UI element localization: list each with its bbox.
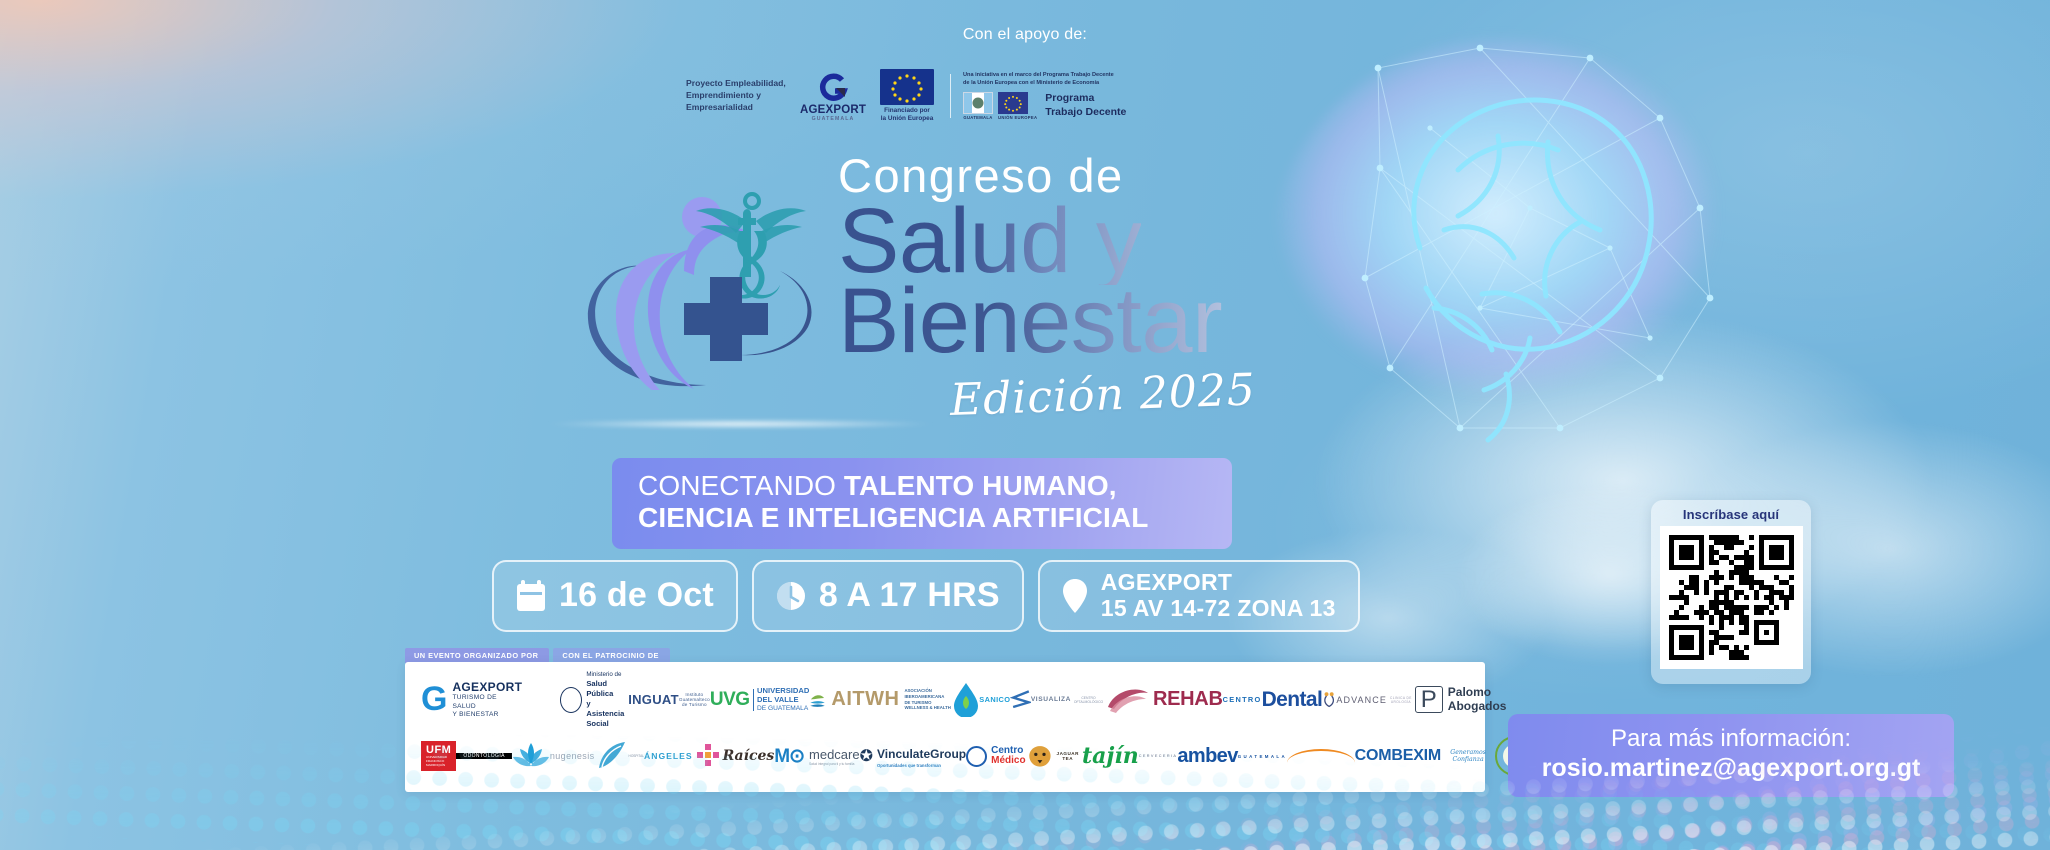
programa-heading-line2: de la Unión Europea con el Ministerio de…: [963, 80, 1099, 86]
agexport-g-icon: [816, 70, 850, 104]
sponsor-tabs: UN EVENTO ORGANIZADO POR CON EL PATROCIN…: [405, 648, 670, 663]
programa-name-line2: Trabajo Decente: [1045, 106, 1126, 118]
hero-underline-glow: [470, 418, 1010, 430]
pill-location-line1: AGEXPORT: [1101, 569, 1232, 595]
eu-funding-logo: Financiado por la Unión Europea: [876, 69, 938, 123]
eu-caption-line2: la Unión Europea: [881, 115, 934, 122]
pill-date[interactable]: 16 de Oct: [492, 560, 738, 632]
calendar-icon: [516, 580, 546, 612]
location-pin-glyph: [1062, 579, 1088, 613]
sponsor-tab-organizer: UN EVENTO ORGANIZADO POR: [405, 648, 549, 663]
qr-title: Inscríbase aquí: [1683, 507, 1779, 522]
support-logos-row: Proyecto Empleabilidad, Emprendimiento y…: [686, 66, 1166, 126]
bottom-dot-wave: [0, 670, 2050, 850]
eu-stars-small-icon: [998, 92, 1028, 114]
programa-heading-line1: Una iniciativa en el marco del Programa …: [963, 72, 1114, 78]
guatemala-flag-block: GUATEMALA: [963, 92, 993, 120]
clock-icon: [776, 581, 806, 611]
pill-date-text: 16 de Oct: [559, 576, 714, 615]
clock-glyph: [776, 581, 806, 611]
agexport-name: AGEXPORT: [800, 104, 866, 116]
programa-flags-row: GUATEMALA UNIÓN EUROPEA: [963, 92, 1131, 120]
pill-time-text: 8 A 17 HRS: [819, 576, 1000, 615]
eu-caption-line1: Financiado por: [884, 107, 930, 114]
eu-flag-small-icon: [998, 92, 1028, 114]
programa-trabajo-decente-logo: Una iniciativa en el marco del Programa …: [963, 72, 1131, 119]
pill-location-line2: 15 AV 14-72 ZONA 13: [1101, 595, 1336, 621]
support-divider: [950, 74, 951, 118]
agexport-country: GUATEMALA: [812, 116, 855, 122]
tagline-banner: CONECTANDO TALENTO HUMANO, CIENCIA E INT…: [612, 458, 1232, 549]
pill-time[interactable]: 8 A 17 HRS: [752, 560, 1024, 632]
eu-caption: Financiado por la Unión Europea: [881, 107, 934, 123]
guatemala-seal-icon: [973, 97, 984, 108]
eu-stars-icon: [880, 69, 934, 105]
hero-line3: Bienestar: [838, 278, 1222, 365]
sponsor-tab-patrons: CON EL PATROCINIO DE: [553, 648, 669, 663]
qr-code[interactable]: [1660, 526, 1803, 669]
eu-flag-icon: [880, 69, 934, 105]
tagline-lead: CONECTANDO: [638, 470, 844, 501]
brain-network-svg: [1230, 8, 1790, 468]
qr-registration-card[interactable]: Inscríbase aquí: [1651, 500, 1811, 684]
eu-flag-caption: UNIÓN EUROPEA: [998, 115, 1037, 120]
guatemala-flag-icon: [963, 92, 993, 114]
banner-canvas: Con el apoyo de: Proyecto Empleabilidad,…: [0, 0, 2050, 850]
calendar-glyph: [516, 580, 546, 612]
hero-edition: Edición 2025: [949, 364, 1256, 426]
project-text: Proyecto Empleabilidad, Emprendimiento y…: [686, 78, 790, 114]
tagline-bold2: CIENCIA E INTELIGENCIA ARTIFICIAL: [638, 502, 1148, 533]
tagline-bold1: TALENTO HUMANO,: [844, 470, 1117, 501]
event-info-pills: 16 de Oct 8 A 17 HRS AGEXPORT 15 AV 14-7…: [492, 560, 1360, 632]
location-pin-icon: [1062, 579, 1088, 613]
pill-location-text: AGEXPORT 15 AV 14-72 ZONA 13: [1101, 570, 1336, 622]
ai-brain-illustration: [1230, 8, 1790, 468]
guatemala-flag-caption: GUATEMALA: [963, 115, 993, 120]
eu-flag-block: UNIÓN EUROPEA: [998, 92, 1037, 120]
programa-heading: Una iniciativa en el marco del Programa …: [963, 72, 1131, 87]
pill-location[interactable]: AGEXPORT 15 AV 14-72 ZONA 13: [1038, 560, 1360, 632]
agexport-logo: AGEXPORT GUATEMALA: [802, 70, 864, 122]
qr-code-canvas[interactable]: [1669, 535, 1794, 660]
support-heading: Con el apoyo de:: [0, 26, 2050, 44]
programa-name-line1: Programa: [1045, 92, 1094, 104]
congress-logo-mark: [580, 175, 830, 390]
logo-mark-svg: [580, 175, 830, 390]
programa-name: Programa Trabajo Decente: [1045, 92, 1126, 118]
